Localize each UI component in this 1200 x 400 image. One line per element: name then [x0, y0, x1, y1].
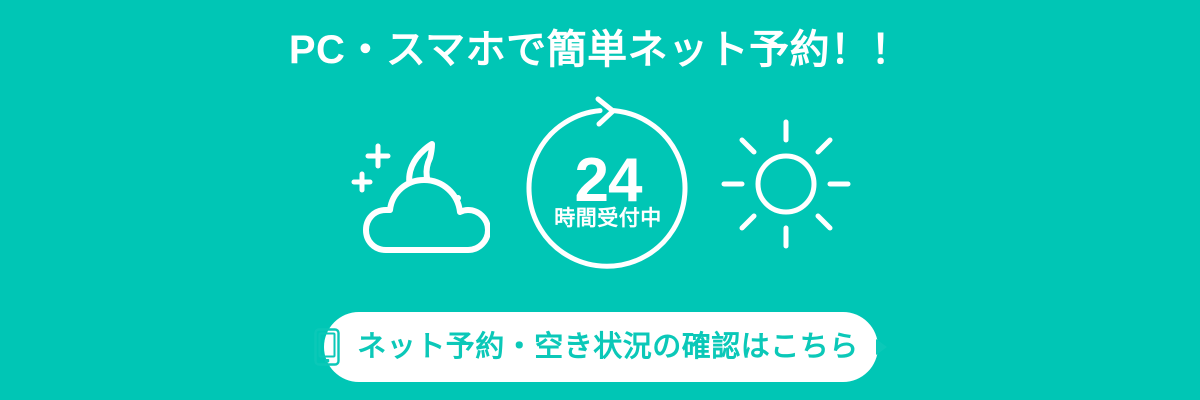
- sparkle-small-icon: [354, 174, 370, 190]
- sun-disc-icon: [758, 156, 814, 212]
- icon-row: 24 時間受付中: [0, 96, 1200, 281]
- sun-icon: [716, 114, 856, 259]
- sparkle-large-icon: [368, 146, 388, 166]
- smartphone-icon: [313, 327, 341, 367]
- moon-cloud-icon: [340, 104, 490, 269]
- 24-hour-badge: 24 時間受付中: [516, 96, 700, 281]
- page-title: PC・スマホで簡単ネット予約！！: [0, 24, 1200, 76]
- reservation-banner: PC・スマホで簡単ネット予約！！: [0, 0, 1200, 400]
- sun-svg: [716, 114, 856, 254]
- cta-label: ネット予約・空き状況の確認はこちら: [357, 330, 859, 364]
- play-triangle-right-icon: [873, 337, 889, 357]
- badge-caption: 時間受付中: [516, 206, 700, 232]
- online-reservation-button[interactable]: ネット予約・空き状況の確認はこちら: [324, 312, 878, 382]
- badge-number: 24: [516, 150, 700, 212]
- sun-rays-icon: [724, 122, 848, 246]
- cloud-icon: [366, 180, 488, 250]
- moon-cloud-svg: [340, 104, 490, 264]
